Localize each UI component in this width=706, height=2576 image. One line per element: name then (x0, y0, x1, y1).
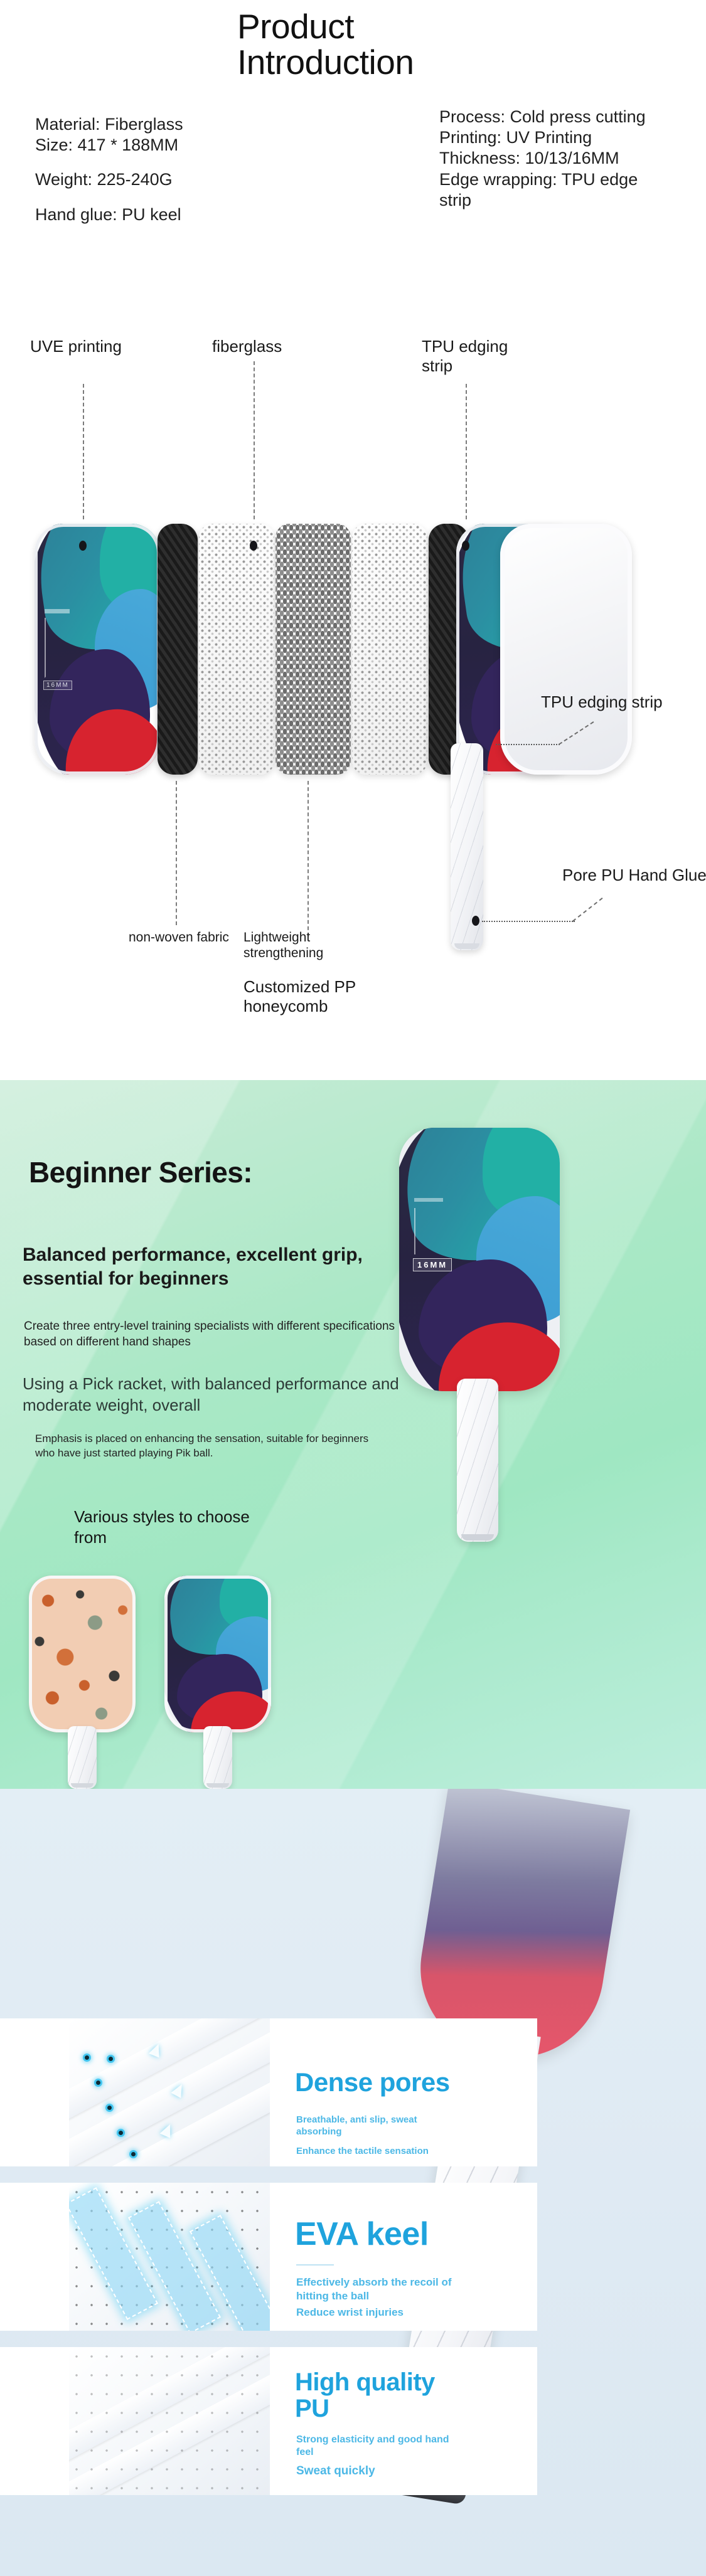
spacer (35, 156, 242, 169)
layer-nonwoven (199, 524, 274, 775)
feature-sub1-eva-keel: Effectively absorb the recoil of hitting… (296, 2276, 472, 2303)
feature-card-eva-keel: EVA keel Effectively absorb the recoil o… (0, 2183, 537, 2331)
leader-line-pu-d (572, 898, 603, 922)
beginner-heading-2: Using a Pick racket, with balanced perfo… (23, 1374, 424, 1416)
paddle-rim (35, 524, 160, 775)
paddle-face-front: 16MM (35, 524, 160, 775)
feature-divider (296, 2264, 334, 2266)
callout-pore-pu-hand-glue: Pore PU Hand Glue (562, 866, 706, 885)
anchor-dot-pu-glue (472, 916, 479, 926)
hero-paddle-face: 16MM (399, 1128, 560, 1391)
spec-column-left: Material: Fiberglass Size: 417 * 188MM W… (35, 114, 242, 225)
leader-line-tpu-right-h (496, 744, 560, 745)
beginner-heading: Beginner Series: (29, 1155, 252, 1189)
style-paddle-swirl-face (164, 1576, 271, 1732)
dense-pores-photo (69, 2018, 270, 2166)
pore-highlight (117, 2129, 125, 2137)
style-paddle-floral-handle (68, 1726, 97, 1789)
callout-lightweight-strengthening: Lightweight strengthening (243, 930, 388, 961)
callout-customized-pp-honeycomb: Customized PP honeycomb (243, 977, 400, 1015)
spec-column-right: Process: Cold press cutting Printing: UV… (439, 107, 646, 211)
leader-line-tpu-top (466, 384, 467, 519)
carbon-fiber-sheet (158, 524, 198, 775)
feature-sub2-dense-pores: Enhance the tactile sensation (296, 2145, 453, 2157)
style-paddle-floral-rim (29, 1576, 136, 1732)
leader-line-pu-h (482, 921, 575, 922)
pp-honeycomb-core (275, 524, 351, 775)
pore-highlight (107, 2055, 115, 2063)
layer-honeycomb-core (275, 524, 351, 775)
various-styles-label: Various styles to choose from (74, 1507, 281, 1547)
spec-thickness: Thickness: 10/13/16MM (439, 148, 646, 169)
grip-dot-texture (69, 2347, 270, 2495)
spec-printing: Printing: UV Printing (439, 127, 646, 148)
feature-sub2-high-quality-pu: Sweat quickly (296, 2464, 409, 2479)
spec-section: Product Introduction Material: Fiberglas… (0, 0, 706, 1080)
feature-sub1-dense-pores: Breathable, anti slip, sweat absorbing (296, 2114, 453, 2138)
feature-title-high-quality-pu: High quality PU (295, 2370, 439, 2422)
feature-card-dense-pores: Dense pores Breathable, anti slip, sweat… (0, 2018, 537, 2166)
spec-process: Process: Cold press cutting (439, 107, 646, 127)
callout-uve-printing: UVE printing (30, 337, 124, 356)
style-paddle-floral (29, 1576, 142, 1783)
pore-highlight (105, 2104, 114, 2112)
leader-line-nonwoven (176, 781, 177, 925)
style-paddle-swirl-rim (164, 1576, 271, 1732)
layer-carbon-front (158, 524, 198, 775)
spacer (35, 191, 242, 204)
layer-printed-face: 16MM (35, 524, 160, 775)
spec-weight: Weight: 225-240G (35, 169, 242, 190)
callout-non-woven-fabric: non-woven fabric (129, 930, 229, 945)
pore-highlight (94, 2079, 102, 2087)
hero-paddle: 16MM (399, 1128, 560, 1479)
feature-card-high-quality-pu: High quality PU Strong elasticity and go… (0, 2347, 537, 2495)
pore-highlight (129, 2150, 137, 2158)
spec-size: Size: 417 * 188MM (35, 135, 242, 156)
hero-spec-rule (414, 1208, 415, 1254)
style-paddle-swirl-handle (203, 1726, 232, 1789)
beginner-series-section: Beginner Series: Balanced performance, e… (0, 1080, 706, 1789)
spec-hand-glue: Hand glue: PU keel (35, 204, 242, 225)
leader-line-uve (83, 384, 84, 519)
beginner-paragraph-2: Emphasis is placed on enhancing the sens… (35, 1431, 387, 1461)
callout-fiberglass: fiberglass (212, 337, 350, 356)
callout-tpu-edging-right: TPU edging strip (541, 692, 673, 712)
feature-sub2-eva-keel: Reduce wrist injuries (296, 2306, 453, 2319)
anchor-dot-uve (79, 541, 87, 551)
anchor-dot-tpu-top (462, 541, 469, 551)
anchor-dot-fiberglass (250, 541, 257, 551)
eva-keel-photo (69, 2183, 270, 2331)
features-section: Dense pores Breathable, anti slip, sweat… (0, 1789, 706, 2576)
feature-title-dense-pores: Dense pores (295, 2067, 450, 2097)
page-title: Product Introduction (237, 9, 469, 80)
high-quality-pu-photo (69, 2347, 270, 2495)
non-woven-fabric-sheet (199, 524, 274, 775)
product-infographic-page: Product Introduction Material: Fiberglas… (0, 0, 706, 2576)
leader-line-honeycomb (308, 781, 309, 936)
beginner-subheading: Balanced performance, excellent grip, es… (23, 1243, 412, 1291)
tpu-edging-shell (500, 524, 632, 775)
style-paddle-floral-face (29, 1576, 136, 1732)
pore-highlight (83, 2054, 91, 2062)
leader-line-fiberglass (254, 361, 255, 519)
beginner-paragraph-1: Create three entry-level training specia… (24, 1318, 400, 1350)
spec-material: Material: Fiberglass (35, 114, 242, 135)
spec-edge-wrapping: Edge wrapping: TPU edge strip (439, 169, 646, 211)
layer-tpu-shell (500, 524, 632, 775)
feature-sub1-high-quality-pu: Strong elasticity and good hand feel (296, 2434, 459, 2459)
callout-tpu-edging-top: TPU edging strip (422, 337, 541, 375)
layer-nonwoven-back (352, 524, 427, 775)
hero-paddle-handle (457, 1379, 498, 1542)
hero-thickness-badge: 16MM (413, 1258, 452, 1271)
style-paddle-swirl (164, 1576, 277, 1783)
non-woven-fabric-sheet-back (352, 524, 427, 775)
feature-title-eva-keel: EVA keel (295, 2215, 429, 2253)
